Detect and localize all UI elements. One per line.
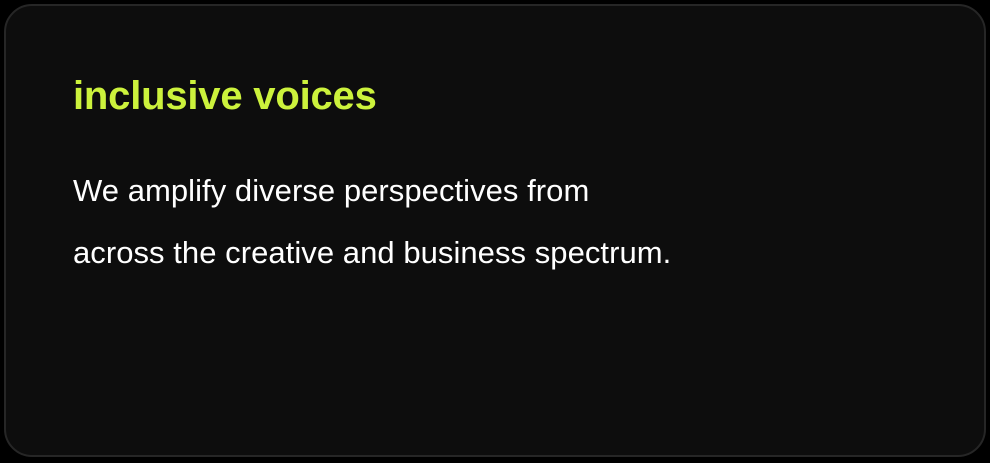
card-description-line-2: across the creative and business spectru… [73, 222, 893, 284]
card-content: inclusive voices We amplify diverse pers… [6, 6, 984, 455]
card-heading: inclusive voices [73, 72, 924, 120]
page-canvas: inclusive voices We amplify diverse pers… [0, 0, 990, 463]
card-description-line-1: We amplify diverse perspectives from [73, 160, 893, 222]
card-description: We amplify diverse perspectives from acr… [73, 160, 893, 284]
feature-card: inclusive voices We amplify diverse pers… [4, 4, 986, 457]
